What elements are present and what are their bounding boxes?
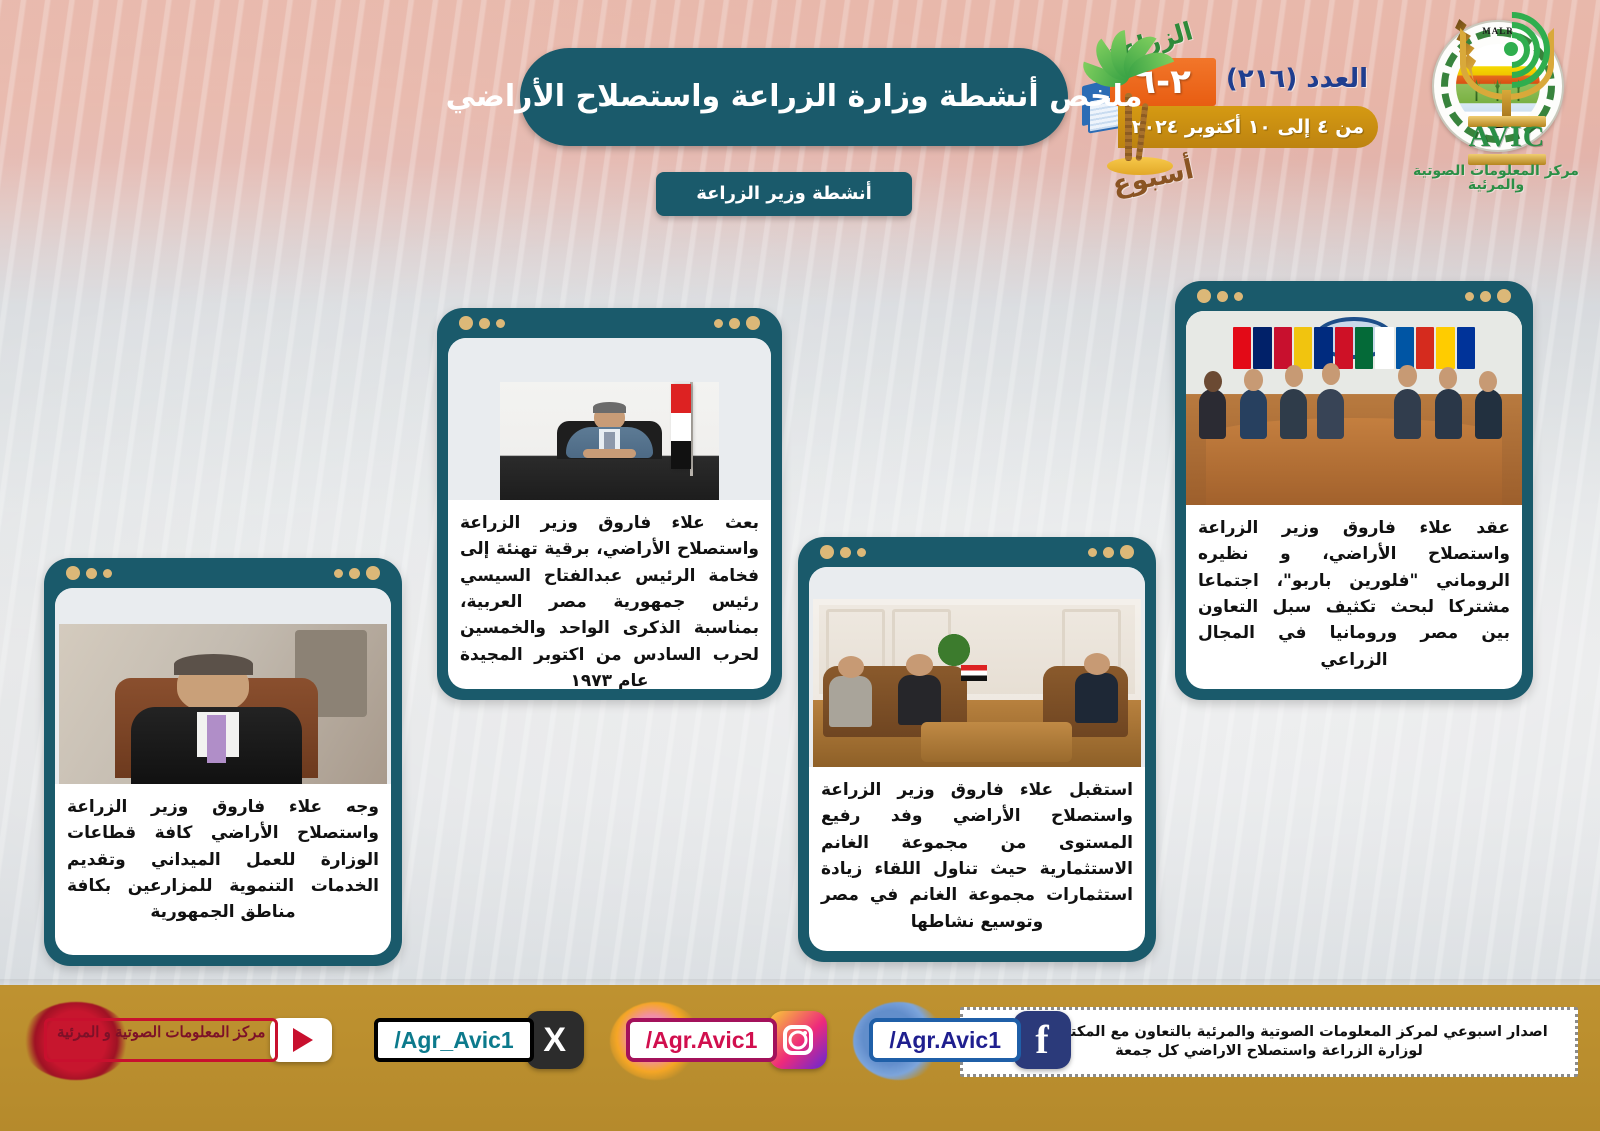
card-caption: عقد علاء فاروق وزير الزراعة واستصلاح الأ… bbox=[1186, 505, 1522, 689]
page-title-text: ملخص أنشطة وزارة الزراعة واستصلاح الأراض… bbox=[446, 79, 1143, 115]
news-card-romania-meeting[interactable]: عقد علاء فاروق وزير الزراعة واستصلاح الأ… bbox=[1175, 281, 1533, 700]
card-titlebar bbox=[1175, 281, 1533, 311]
social-link-instagram[interactable]: /Agr.Avic1 bbox=[626, 1008, 828, 1072]
card-caption: وجه علاء فاروق وزير الزراعة واستصلاح الأ… bbox=[55, 784, 391, 955]
card-photo bbox=[1186, 311, 1522, 505]
avic-stem-icon bbox=[1502, 90, 1511, 118]
infographic-page: MALR ٢-٦ العدد (٢١٦) من ٤ إلى ١٠ أكتوبر … bbox=[0, 0, 1600, 1131]
news-card-field-work[interactable]: وجه علاء فاروق وزير الزراعة واستصلاح الأ… bbox=[44, 558, 402, 966]
card-photo bbox=[55, 588, 391, 784]
broadcast-waves-icon bbox=[1476, 14, 1562, 90]
x-twitter-icon: X bbox=[526, 1011, 584, 1069]
window-dots-right-icon bbox=[459, 316, 505, 330]
youtube-handle: مركز المعلومات الصوتية و المرئية bbox=[44, 1018, 278, 1062]
window-dots-right-icon bbox=[1197, 289, 1243, 303]
issue-number-label: العدد (٢١٦) bbox=[1226, 66, 1368, 92]
card-caption: بعث علاء فاروق وزير الزراعة واستصلاح الأ… bbox=[448, 500, 771, 689]
card-titlebar bbox=[437, 308, 782, 338]
news-card-ghanim-group[interactable]: استقبل علاء فاروق وزير الزراعة واستصلاح … bbox=[798, 537, 1156, 962]
news-card-sisi-congratulation[interactable]: بعث علاء فاروق وزير الزراعة واستصلاح الأ… bbox=[437, 308, 782, 700]
header: MALR ٢-٦ العدد (٢١٦) من ٤ إلى ١٠ أكتوبر … bbox=[0, 0, 1600, 225]
window-dots-left-icon bbox=[1465, 289, 1511, 303]
card-photo bbox=[448, 338, 771, 500]
window-dots-left-icon bbox=[334, 566, 380, 580]
window-dots-left-icon bbox=[1088, 545, 1134, 559]
footer: f /Agr.Avic1 /Agr.Avic1 X /Agr_Avic1 bbox=[0, 985, 1600, 1131]
section-subtitle: أنشطة وزير الزراعة bbox=[656, 172, 912, 216]
card-titlebar bbox=[44, 558, 402, 588]
youtube-icon bbox=[270, 1018, 332, 1062]
avic-arabic-label: مركز المعلومات الصوتية والمرئية bbox=[1398, 164, 1594, 192]
facebook-icon: f bbox=[1013, 1011, 1071, 1069]
card-titlebar bbox=[798, 537, 1156, 567]
avic-wordmark: AVIC bbox=[1468, 122, 1546, 152]
x-handle: /Agr_Avic1 bbox=[374, 1018, 533, 1062]
social-link-x[interactable]: X /Agr_Avic1 bbox=[374, 1008, 583, 1072]
window-dots-left-icon bbox=[714, 316, 760, 330]
facebook-handle: /Agr.Avic1 bbox=[869, 1018, 1021, 1062]
card-caption: استقبل علاء فاروق وزير الزراعة واستصلاح … bbox=[809, 767, 1145, 951]
card-photo bbox=[809, 567, 1145, 767]
social-link-youtube[interactable]: مركز المعلومات الصوتية و المرئية bbox=[44, 1008, 332, 1072]
social-links: f /Agr.Avic1 /Agr.Avic1 X /Agr_Avic1 bbox=[44, 1005, 1071, 1075]
avic-logo: AVIC مركز المعلومات الصوتية والمرئية bbox=[1398, 4, 1594, 182]
window-dots-right-icon bbox=[66, 566, 112, 580]
instagram-handle: /Agr.Avic1 bbox=[626, 1018, 778, 1062]
instagram-icon bbox=[769, 1011, 827, 1069]
page-title: ملخص أنشطة وزارة الزراعة واستصلاح الأراض… bbox=[520, 48, 1068, 146]
section-subtitle-text: أنشطة وزير الزراعة bbox=[696, 185, 872, 203]
window-dots-right-icon bbox=[820, 545, 866, 559]
